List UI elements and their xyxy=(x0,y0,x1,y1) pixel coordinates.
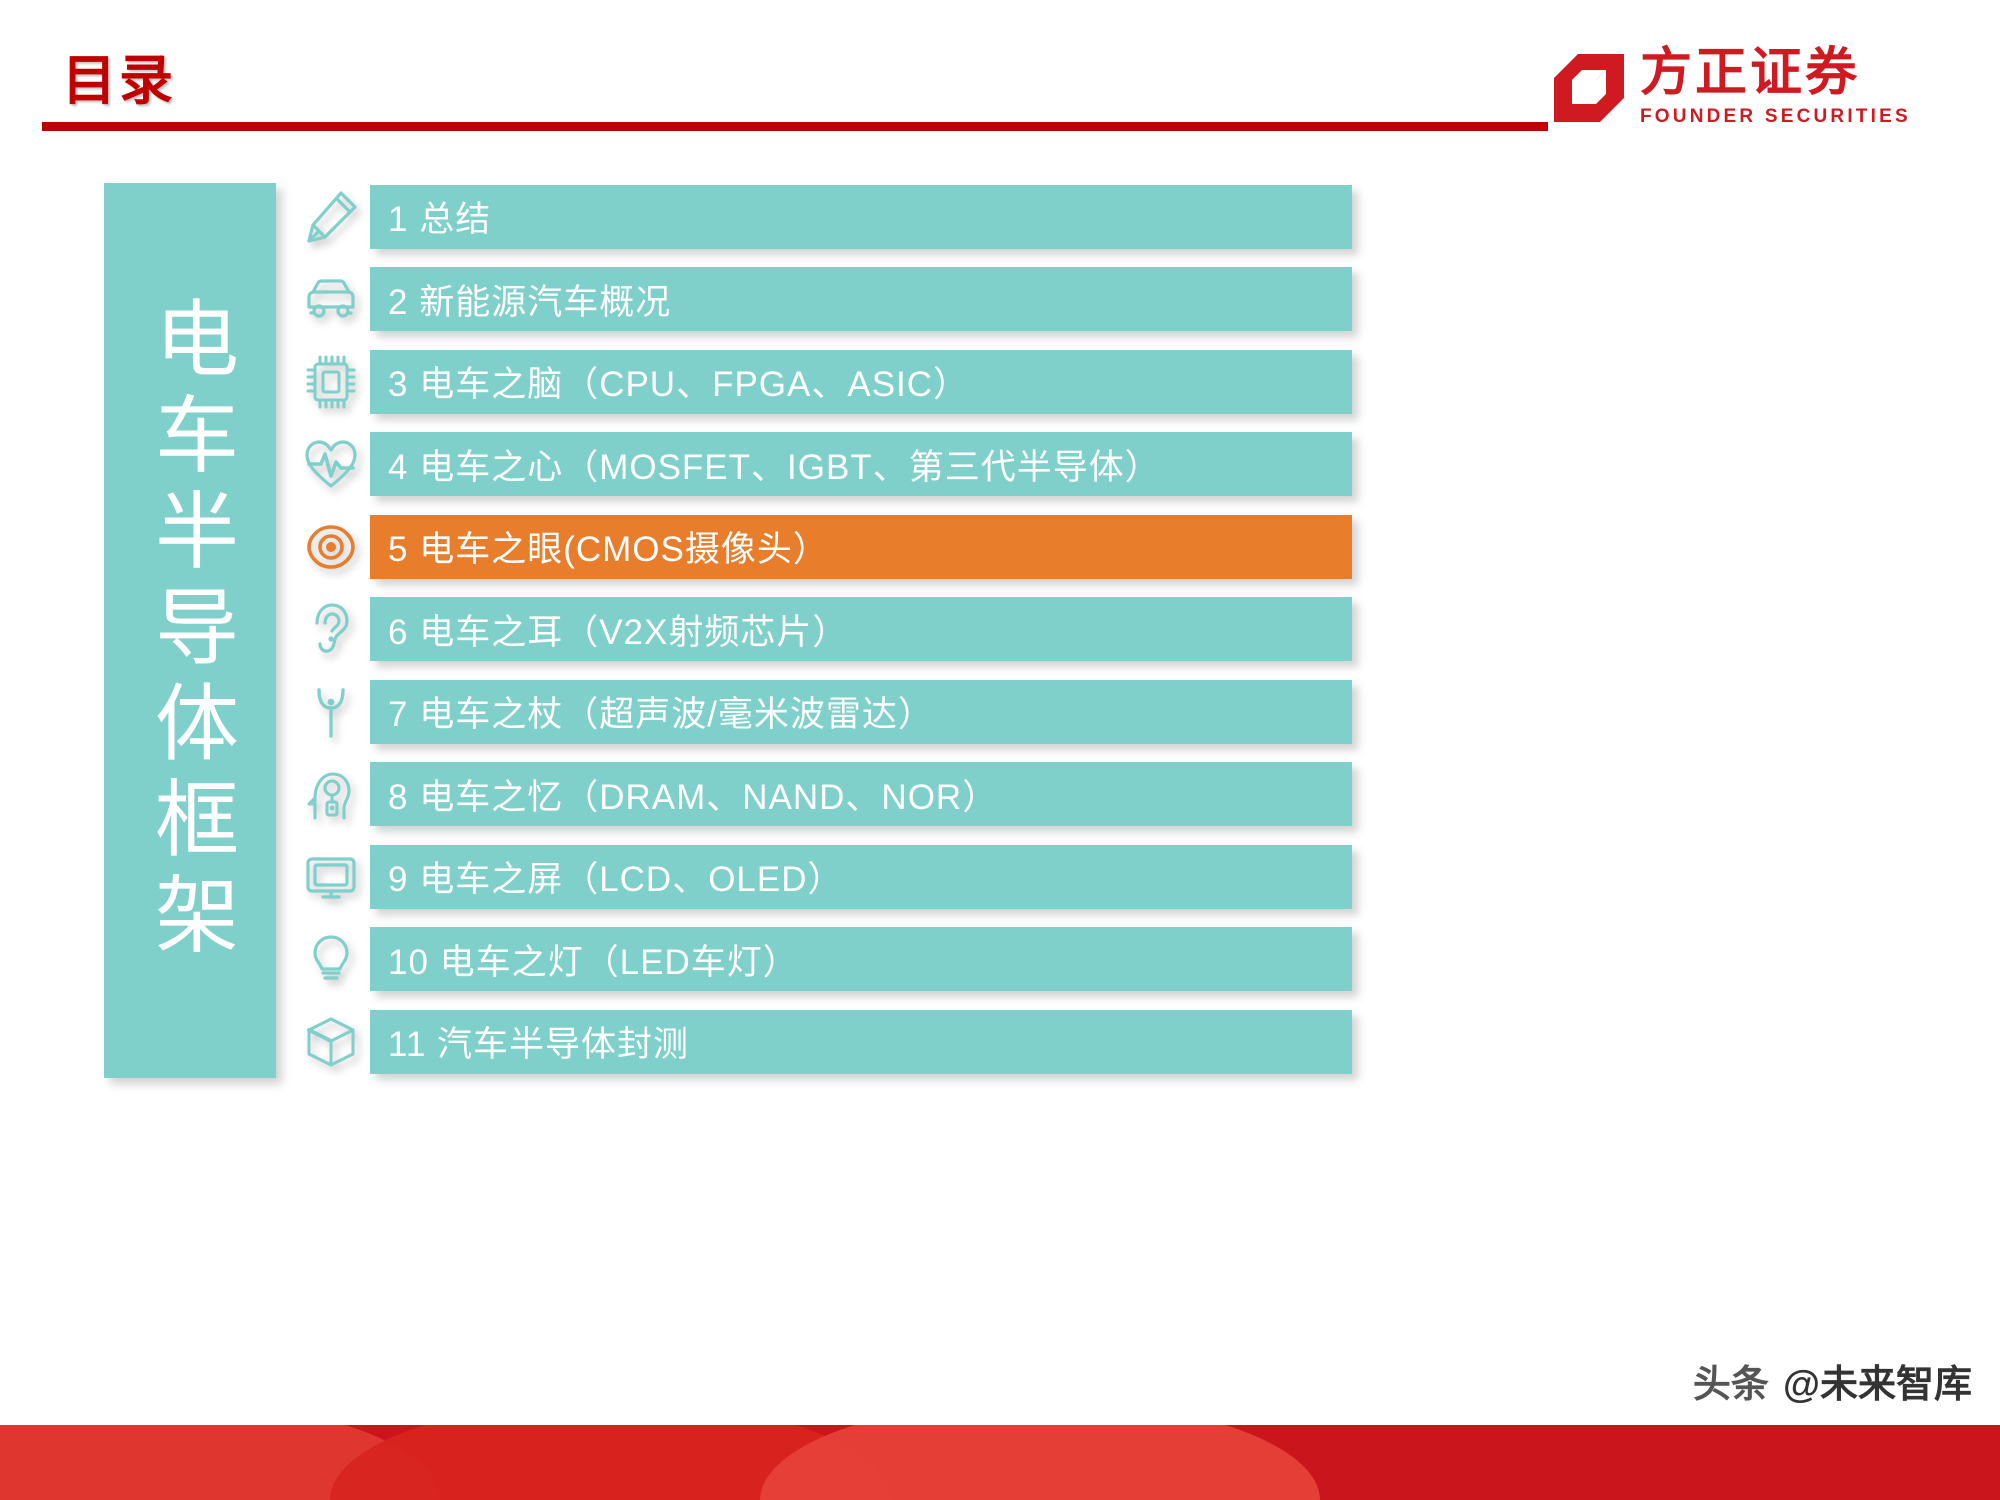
pen-icon xyxy=(292,184,370,250)
page-title: 目录 xyxy=(62,36,176,115)
toc-label-2: 2 新能源汽车概况 xyxy=(388,274,671,325)
toc-label-3: 3 电车之脑（CPU、FPGA、ASIC） xyxy=(388,356,969,407)
toc-item-4[interactable]: 4 电车之心（MOSFET、IGBT、第三代半导体） xyxy=(292,428,1352,501)
toc-bar-5[interactable]: 5 电车之眼(CMOS摄像头） xyxy=(370,515,1352,579)
toc-item-9[interactable]: 9 电车之屏（LCD、OLED） xyxy=(292,840,1352,913)
toc-bar-6[interactable]: 6 电车之耳（V2X射频芯片） xyxy=(370,597,1352,661)
toc-item-11[interactable]: 11 汽车半导体封测 xyxy=(292,1005,1352,1078)
car-icon xyxy=(292,266,370,332)
toc-item-7[interactable]: 7 电车之杖（超声波/毫米波雷达） xyxy=(292,675,1352,748)
ear-icon xyxy=(292,596,370,662)
toc-label-10: 10 电车之灯（LED车灯） xyxy=(388,934,799,985)
toc-label-7: 7 电车之杖（超声波/毫米波雷达） xyxy=(388,686,934,737)
toc-item-1[interactable]: 1 总结 xyxy=(292,180,1352,253)
watermark-account: @未来智库 xyxy=(1783,1353,1972,1408)
toc-label-8: 8 电车之忆（DRAM、NAND、NOR） xyxy=(388,769,998,820)
eye-icon xyxy=(292,514,370,580)
bottom-decorative-band xyxy=(0,1425,2000,1500)
toc-bar-1[interactable]: 1 总结 xyxy=(370,185,1352,249)
watermark-source: 头条 xyxy=(1693,1353,1769,1408)
heart-pulse-icon xyxy=(292,431,370,497)
toc-label-11: 11 汽车半导体封测 xyxy=(388,1016,689,1067)
toc-label-9: 9 电车之屏（LCD、OLED） xyxy=(388,851,844,902)
watermark: 头条 @未来智库 xyxy=(1693,1353,1972,1408)
band-wave-3 xyxy=(760,1425,1320,1500)
box-icon xyxy=(292,1009,370,1075)
toc-item-5[interactable]: 5 电车之眼(CMOS摄像头） xyxy=(292,510,1352,583)
founder-cube-icon xyxy=(1552,52,1626,126)
toc-bar-11[interactable]: 11 汽车半导体封测 xyxy=(370,1010,1352,1074)
antenna-icon xyxy=(292,679,370,745)
toc-label-1: 1 总结 xyxy=(388,191,491,242)
head-memory-icon xyxy=(292,761,370,827)
toc-item-3[interactable]: 3 电车之脑（CPU、FPGA、ASIC） xyxy=(292,345,1352,418)
bulb-icon xyxy=(292,926,370,992)
toc-item-10[interactable]: 10 电车之灯（LED车灯） xyxy=(292,923,1352,996)
toc-bar-8[interactable]: 8 电车之忆（DRAM、NAND、NOR） xyxy=(370,762,1352,826)
toc-list: 1 总结 2 新能源汽车概况 xyxy=(292,180,1352,1088)
toc-item-2[interactable]: 2 新能源汽车概况 xyxy=(292,263,1352,336)
chip-icon xyxy=(292,349,370,415)
toc-bar-4[interactable]: 4 电车之心（MOSFET、IGBT、第三代半导体） xyxy=(370,432,1352,496)
toc-bar-2[interactable]: 2 新能源汽车概况 xyxy=(370,267,1352,331)
toc-bar-9[interactable]: 9 电车之屏（LCD、OLED） xyxy=(370,845,1352,909)
toc-item-6[interactable]: 6 电车之耳（V2X射频芯片） xyxy=(292,593,1352,666)
toc-label-4: 4 电车之心（MOSFET、IGBT、第三代半导体） xyxy=(388,439,1161,490)
monitor-icon xyxy=(292,844,370,910)
logo-name-cn: 方正证券 xyxy=(1640,44,1911,102)
vertical-title-text: 电车半导体框架 xyxy=(145,295,234,967)
toc-bar-10[interactable]: 10 电车之灯（LED车灯） xyxy=(370,927,1352,991)
title-divider xyxy=(42,122,1548,131)
logo-name-en: FOUNDER SECURITIES xyxy=(1640,106,1911,128)
slide-root: 目录 方正证券 FOUNDER SECURITIES 电车半导体框架 xyxy=(0,0,2000,1500)
toc-label-6: 6 电车之耳（V2X射频芯片） xyxy=(388,604,848,655)
toc-bar-3[interactable]: 3 电车之脑（CPU、FPGA、ASIC） xyxy=(370,350,1352,414)
toc-bar-7[interactable]: 7 电车之杖（超声波/毫米波雷达） xyxy=(370,680,1352,744)
toc-label-5: 5 电车之眼(CMOS摄像头） xyxy=(388,521,829,572)
vertical-title-banner: 电车半导体框架 xyxy=(104,183,276,1078)
toc-item-8[interactable]: 8 电车之忆（DRAM、NAND、NOR） xyxy=(292,758,1352,831)
company-logo: 方正证券 FOUNDER SECURITIES xyxy=(1552,44,1911,128)
